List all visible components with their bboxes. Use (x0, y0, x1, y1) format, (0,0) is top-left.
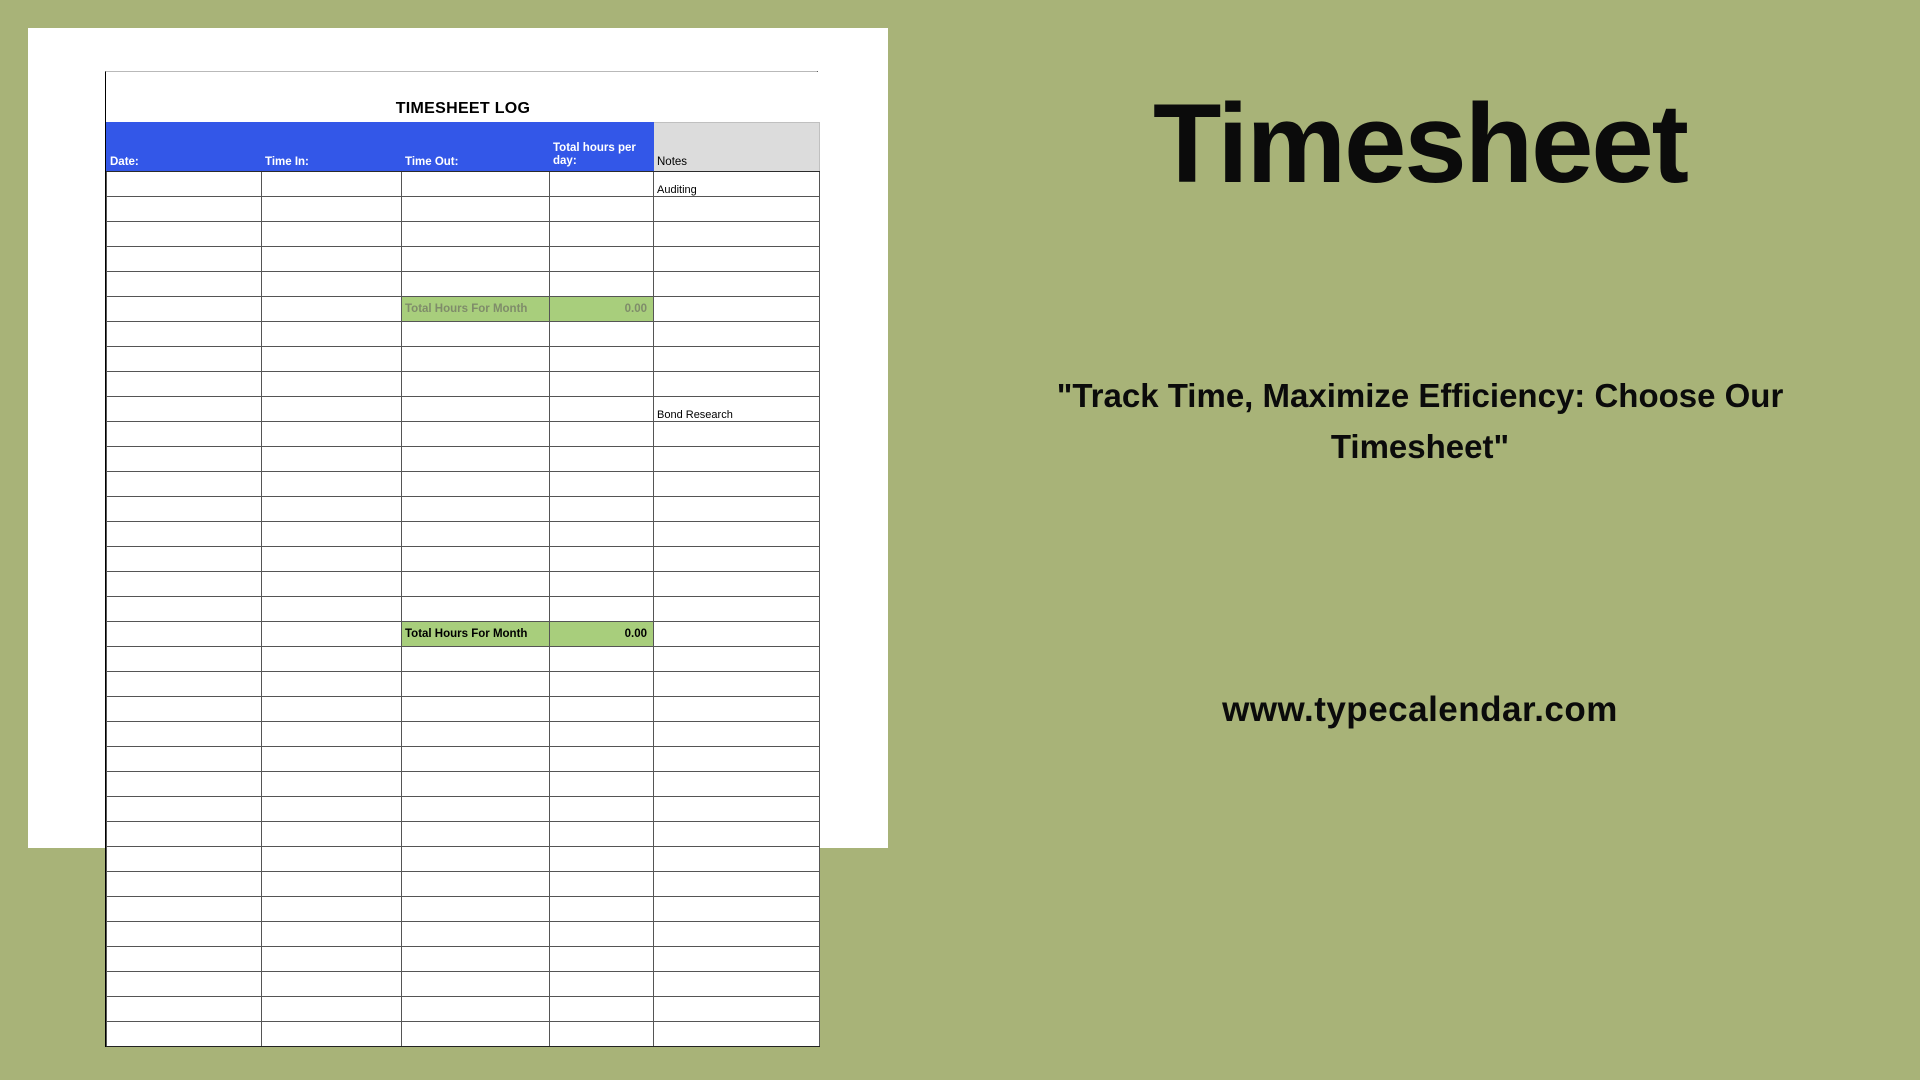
timesheet-entry-row (107, 572, 820, 597)
timesheet-entry-row (107, 197, 820, 222)
timesheet-blank-row (107, 672, 820, 697)
time-in-cell[interactable] (262, 972, 402, 997)
total-hours-per-day-cell[interactable] (550, 947, 654, 972)
title-row: TIMESHEET LOG (107, 72, 820, 123)
total-hours-per-day-cell[interactable] (550, 572, 654, 597)
promo-tagline: "Track Time, Maximize Efficiency: Choose… (1040, 370, 1800, 472)
date-cell[interactable] (107, 1022, 262, 1047)
date-cell[interactable] (107, 272, 262, 297)
timesheet-entry-row (107, 847, 820, 872)
notes-cell[interactable] (654, 472, 820, 497)
total-hours-per-day-cell[interactable] (550, 172, 654, 197)
timesheet-blank-row (107, 922, 820, 947)
time-in-cell[interactable] (262, 222, 402, 247)
total-hours-per-day-cell[interactable] (550, 872, 654, 897)
timesheet-blank-row (107, 347, 820, 372)
notes-cell[interactable] (654, 272, 820, 297)
notes-cell[interactable] (654, 797, 820, 822)
date-cell[interactable] (107, 547, 262, 572)
total-hours-per-day-cell[interactable] (550, 422, 654, 447)
timesheet-entry-row (107, 422, 820, 447)
timesheet-blank-row (107, 372, 820, 397)
time-in-cell[interactable] (262, 922, 402, 947)
total-hours-per-day-cell[interactable] (550, 672, 654, 697)
timesheet-blank-row (107, 1022, 820, 1047)
time-in-cell[interactable] (262, 772, 402, 797)
time-in-cell[interactable] (262, 897, 402, 922)
timesheet-entry-row (107, 597, 820, 622)
notes-cell[interactable] (654, 647, 820, 672)
date-cell[interactable] (107, 647, 262, 672)
total-row-notes-cell[interactable] (654, 622, 820, 647)
date-cell[interactable] (107, 372, 262, 397)
time-in-cell[interactable] (262, 722, 402, 747)
notes-cell[interactable] (654, 822, 820, 847)
date-cell[interactable] (107, 822, 262, 847)
total-hours-value: 0.00 (550, 297, 654, 322)
col-header-notes[interactable]: Notes (654, 123, 820, 172)
notes-cell[interactable] (654, 347, 820, 372)
time-out-cell[interactable] (402, 947, 550, 972)
notes-cell[interactable] (654, 422, 820, 447)
col-header-time-in[interactable]: Time In: (262, 123, 402, 172)
col-header-total-hours[interactable]: Total hours per day: (550, 123, 654, 172)
time-out-cell[interactable] (402, 472, 550, 497)
time-out-cell[interactable] (402, 847, 550, 872)
notes-cell[interactable] (654, 722, 820, 747)
column-header-row: Date: Time In: Time Out: Total hours per… (107, 123, 820, 172)
date-cell[interactable] (107, 697, 262, 722)
time-out-cell[interactable] (402, 397, 550, 422)
notes-cell[interactable] (654, 847, 820, 872)
date-cell[interactable] (107, 497, 262, 522)
time-out-cell[interactable] (402, 797, 550, 822)
time-out-cell[interactable] (402, 447, 550, 472)
timesheet-entry-row (107, 897, 820, 922)
timesheet-entry-row (107, 722, 820, 747)
total-hours-per-day-cell[interactable] (550, 522, 654, 547)
timesheet-entry-row (107, 747, 820, 772)
timesheet-body: TIMESHEET LOG Date: Time In: Time Out: T… (107, 72, 820, 1047)
time-out-cell[interactable] (402, 697, 550, 722)
notes-cell[interactable]: Auditing (654, 172, 820, 197)
time-out-cell[interactable] (402, 197, 550, 222)
time-in-cell[interactable] (262, 397, 402, 422)
time-in-cell[interactable] (262, 872, 402, 897)
total-row-date-cell[interactable] (107, 622, 262, 647)
time-in-cell[interactable] (262, 847, 402, 872)
date-cell[interactable] (107, 322, 262, 347)
total-hours-per-day-cell[interactable] (550, 897, 654, 922)
total-hours-per-day-cell[interactable] (550, 972, 654, 997)
time-out-cell[interactable] (402, 547, 550, 572)
date-cell[interactable] (107, 872, 262, 897)
timesheet-blank-row (107, 972, 820, 997)
time-in-cell[interactable] (262, 197, 402, 222)
notes-cell[interactable] (654, 997, 820, 1022)
date-cell[interactable] (107, 772, 262, 797)
time-in-cell[interactable] (262, 822, 402, 847)
date-cell[interactable] (107, 247, 262, 272)
timesheet-entry-row (107, 522, 820, 547)
time-out-cell[interactable] (402, 372, 550, 397)
time-out-cell[interactable] (402, 247, 550, 272)
time-in-cell[interactable] (262, 247, 402, 272)
time-out-cell[interactable] (402, 322, 550, 347)
date-cell[interactable] (107, 397, 262, 422)
notes-cell[interactable] (654, 947, 820, 972)
total-hours-per-day-cell[interactable] (550, 222, 654, 247)
time-in-cell[interactable] (262, 597, 402, 622)
time-in-cell[interactable] (262, 422, 402, 447)
notes-cell[interactable] (654, 922, 820, 947)
notes-cell[interactable] (654, 872, 820, 897)
time-out-cell[interactable] (402, 922, 550, 947)
notes-cell[interactable] (654, 572, 820, 597)
total-hours-row: Total Hours For Month0.00 (107, 297, 820, 322)
timesheet-entry-row (107, 497, 820, 522)
time-out-cell[interactable] (402, 572, 550, 597)
time-out-cell[interactable] (402, 972, 550, 997)
total-row-notes-cell[interactable] (654, 297, 820, 322)
total-hours-per-day-cell[interactable] (550, 372, 654, 397)
notes-cell[interactable] (654, 372, 820, 397)
time-out-cell[interactable] (402, 897, 550, 922)
date-cell[interactable] (107, 672, 262, 697)
timesheet-blank-row (107, 322, 820, 347)
time-in-cell[interactable] (262, 447, 402, 472)
col-header-time-out[interactable]: Time Out: (402, 123, 550, 172)
spreadsheet-card: TIMESHEET LOG Date: Time In: Time Out: T… (28, 28, 888, 848)
total-hours-value: 0.00 (550, 622, 654, 647)
total-hours-per-day-cell[interactable] (550, 797, 654, 822)
time-in-cell[interactable] (262, 797, 402, 822)
time-in-cell[interactable] (262, 172, 402, 197)
promo-panel: Timesheet "Track Time, Maximize Efficien… (920, 0, 1920, 1080)
date-cell[interactable] (107, 597, 262, 622)
date-cell[interactable] (107, 447, 262, 472)
time-out-cell[interactable] (402, 597, 550, 622)
timesheet-entry-row (107, 222, 820, 247)
time-in-cell[interactable] (262, 372, 402, 397)
time-in-cell[interactable] (262, 272, 402, 297)
time-out-cell[interactable] (402, 722, 550, 747)
notes-cell[interactable] (654, 597, 820, 622)
time-in-cell[interactable] (262, 697, 402, 722)
notes-cell[interactable] (654, 697, 820, 722)
date-cell[interactable] (107, 347, 262, 372)
promo-website: www.typecalendar.com (920, 690, 1920, 730)
total-hours-per-day-cell[interactable] (550, 397, 654, 422)
total-hours-per-day-cell[interactable] (550, 272, 654, 297)
total-hours-per-day-cell[interactable] (550, 697, 654, 722)
time-in-cell[interactable] (262, 547, 402, 572)
total-hours-per-day-cell[interactable] (550, 847, 654, 872)
date-cell[interactable] (107, 972, 262, 997)
date-cell[interactable] (107, 847, 262, 872)
total-hours-per-day-cell[interactable] (550, 647, 654, 672)
timesheet-entry-row: Auditing (107, 172, 820, 197)
total-hours-per-day-cell[interactable] (550, 197, 654, 222)
total-hours-per-day-cell[interactable] (550, 247, 654, 272)
total-hours-per-day-cell[interactable] (550, 447, 654, 472)
time-in-cell[interactable] (262, 747, 402, 772)
notes-cell[interactable] (654, 247, 820, 272)
timesheet-blank-row (107, 947, 820, 972)
total-hours-per-day-cell[interactable] (550, 547, 654, 572)
title-cell: TIMESHEET LOG (107, 72, 820, 123)
time-out-cell[interactable] (402, 172, 550, 197)
notes-cell[interactable] (654, 747, 820, 772)
time-out-cell[interactable] (402, 997, 550, 1022)
timesheet-entry-row (107, 697, 820, 722)
notes-cell[interactable] (654, 222, 820, 247)
notes-cell[interactable] (654, 197, 820, 222)
date-cell[interactable] (107, 947, 262, 972)
date-cell[interactable] (107, 797, 262, 822)
timesheet-table[interactable]: TIMESHEET LOG Date: Time In: Time Out: T… (106, 72, 820, 1047)
poster-page: TIMESHEET LOG Date: Time In: Time Out: T… (0, 0, 1920, 1080)
date-cell[interactable] (107, 722, 262, 747)
total-hours-row: Total Hours For Month0.00 (107, 622, 820, 647)
time-out-cell[interactable] (402, 497, 550, 522)
timesheet-entry-row (107, 772, 820, 797)
notes-cell[interactable] (654, 972, 820, 997)
date-cell[interactable] (107, 522, 262, 547)
timesheet-table-wrapper[interactable]: TIMESHEET LOG Date: Time In: Time Out: T… (105, 71, 818, 1047)
timesheet-entry-row (107, 472, 820, 497)
timesheet-entry-row (107, 797, 820, 822)
time-in-cell[interactable] (262, 947, 402, 972)
time-out-cell[interactable] (402, 822, 550, 847)
notes-cell[interactable] (654, 547, 820, 572)
total-hours-per-day-cell[interactable] (550, 1022, 654, 1047)
total-hours-per-day-cell[interactable] (550, 322, 654, 347)
total-hours-per-day-cell[interactable] (550, 822, 654, 847)
date-cell[interactable] (107, 222, 262, 247)
notes-cell[interactable] (654, 1022, 820, 1047)
sheet-title: TIMESHEET LOG (110, 100, 817, 118)
time-in-cell[interactable] (262, 1022, 402, 1047)
total-hours-per-day-cell[interactable] (550, 472, 654, 497)
time-out-cell[interactable] (402, 222, 550, 247)
date-cell[interactable] (107, 922, 262, 947)
total-hours-per-day-cell[interactable] (550, 747, 654, 772)
notes-cell[interactable] (654, 447, 820, 472)
total-hours-per-day-cell[interactable] (550, 347, 654, 372)
col-header-date[interactable]: Date: (107, 123, 262, 172)
timesheet-entry-row: Bond Research (107, 397, 820, 422)
timesheet-entry-row (107, 872, 820, 897)
timesheet-blank-row (107, 647, 820, 672)
total-hours-per-day-cell[interactable] (550, 997, 654, 1022)
promo-title: Timesheet (920, 88, 1920, 200)
time-out-cell[interactable] (402, 422, 550, 447)
total-row-time-in-cell[interactable] (262, 622, 402, 647)
time-out-cell[interactable] (402, 522, 550, 547)
time-out-cell[interactable] (402, 1022, 550, 1047)
time-out-cell[interactable] (402, 272, 550, 297)
total-row-time-in-cell[interactable] (262, 297, 402, 322)
total-hours-label: Total Hours For Month (402, 297, 550, 322)
time-in-cell[interactable] (262, 322, 402, 347)
total-hours-per-day-cell[interactable] (550, 497, 654, 522)
notes-cell[interactable] (654, 322, 820, 347)
date-cell[interactable] (107, 422, 262, 447)
time-in-cell[interactable] (262, 472, 402, 497)
total-hours-per-day-cell[interactable] (550, 922, 654, 947)
notes-cell[interactable]: Bond Research (654, 397, 820, 422)
total-hours-label: Total Hours For Month (402, 622, 550, 647)
total-hours-per-day-cell[interactable] (550, 722, 654, 747)
total-row-date-cell[interactable] (107, 297, 262, 322)
date-cell[interactable] (107, 172, 262, 197)
timesheet-entry-row (107, 272, 820, 297)
time-out-cell[interactable] (402, 672, 550, 697)
time-in-cell[interactable] (262, 672, 402, 697)
time-in-cell[interactable] (262, 997, 402, 1022)
notes-cell[interactable] (654, 897, 820, 922)
time-in-cell[interactable] (262, 522, 402, 547)
date-cell[interactable] (107, 747, 262, 772)
timesheet-entry-row (107, 822, 820, 847)
time-in-cell[interactable] (262, 647, 402, 672)
time-out-cell[interactable] (402, 747, 550, 772)
date-cell[interactable] (107, 997, 262, 1022)
time-out-cell[interactable] (402, 647, 550, 672)
time-in-cell[interactable] (262, 347, 402, 372)
notes-cell[interactable] (654, 772, 820, 797)
notes-cell[interactable] (654, 522, 820, 547)
timesheet-blank-row (107, 997, 820, 1022)
date-cell[interactable] (107, 197, 262, 222)
notes-cell[interactable] (654, 672, 820, 697)
timesheet-entry-row (107, 547, 820, 572)
time-in-cell[interactable] (262, 497, 402, 522)
notes-cell[interactable] (654, 497, 820, 522)
timesheet-entry-row (107, 247, 820, 272)
time-out-cell[interactable] (402, 347, 550, 372)
total-hours-per-day-cell[interactable] (550, 597, 654, 622)
date-cell[interactable] (107, 897, 262, 922)
time-out-cell[interactable] (402, 772, 550, 797)
timesheet-entry-row (107, 447, 820, 472)
time-in-cell[interactable] (262, 572, 402, 597)
total-hours-per-day-cell[interactable] (550, 772, 654, 797)
date-cell[interactable] (107, 472, 262, 497)
time-out-cell[interactable] (402, 872, 550, 897)
date-cell[interactable] (107, 572, 262, 597)
